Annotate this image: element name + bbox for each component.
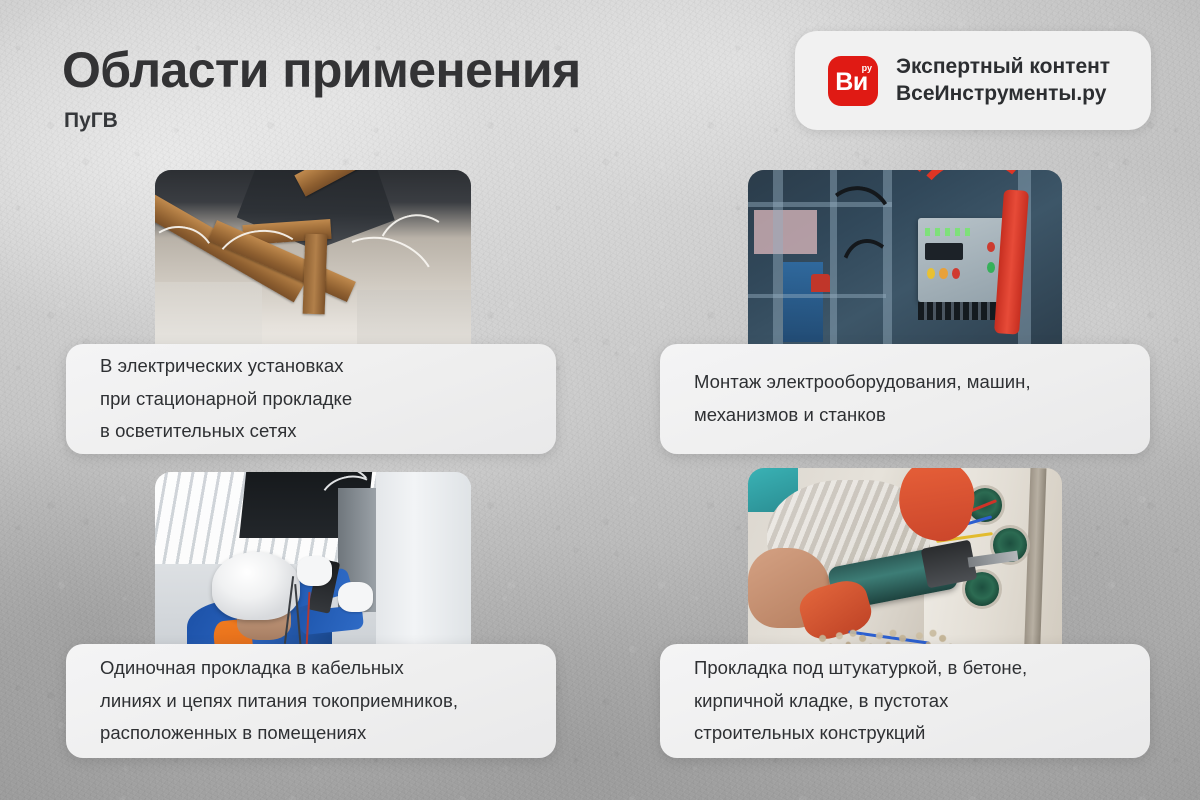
card-cable-lines: Одиночная прокладка в кабельных линиях и… — [66, 644, 556, 758]
photo-wall-drilling-content — [748, 468, 1062, 668]
card-equipment-mounting: Монтаж электрооборудования, машин, механ… — [660, 344, 1150, 454]
logo-domain-superscript: ру — [862, 64, 872, 73]
card-text: Монтаж электрооборудования, машин, механ… — [694, 366, 1031, 432]
work-glove — [297, 556, 332, 586]
photo-ceiling-rafters-content — [155, 170, 471, 370]
photo-electrician-content — [155, 472, 471, 672]
brand-text: Экспертный контент ВсеИнструменты.ру — [896, 54, 1110, 108]
white-cabinet — [376, 472, 471, 672]
card-concrete-laying: Прокладка под штукатуркой, в бетоне, кир… — [660, 644, 1150, 758]
page-subtitle: ПуГВ — [64, 109, 118, 133]
photo-electrician — [155, 472, 471, 672]
page-title: Области применения — [62, 44, 581, 97]
machine-surface — [754, 210, 817, 254]
work-glove — [338, 582, 373, 612]
infographic-stage: Области применения ПуГВ Ви ру Экспертный… — [0, 0, 1200, 800]
brand-line-2: ВсеИнструменты.ру — [896, 81, 1110, 108]
photo-wall-drilling — [748, 468, 1062, 668]
card-text: Прокладка под штукатуркой, в бетоне, кир… — [694, 652, 1027, 751]
panel-button — [927, 268, 935, 279]
machine-frame — [773, 170, 782, 370]
card-text: Одиночная прокладка в кабельных линиях и… — [100, 652, 458, 751]
photo-ceiling-rafters — [155, 170, 471, 370]
brand-line-1: Экспертный контент — [896, 54, 1110, 81]
photo-control-panel-content — [748, 170, 1062, 370]
brand-badge: Ви ру Экспертный контент ВсеИнструменты.… — [795, 31, 1151, 130]
vseinstrumenty-logo-icon: Ви ру — [828, 56, 878, 106]
photo-control-panel — [748, 170, 1062, 370]
card-text: В электрических установках при стационар… — [100, 350, 352, 449]
card-lighting-networks: В электрических установках при стационар… — [66, 344, 556, 454]
logo-letters: Ви — [835, 70, 867, 95]
signal-lamp — [811, 274, 830, 292]
